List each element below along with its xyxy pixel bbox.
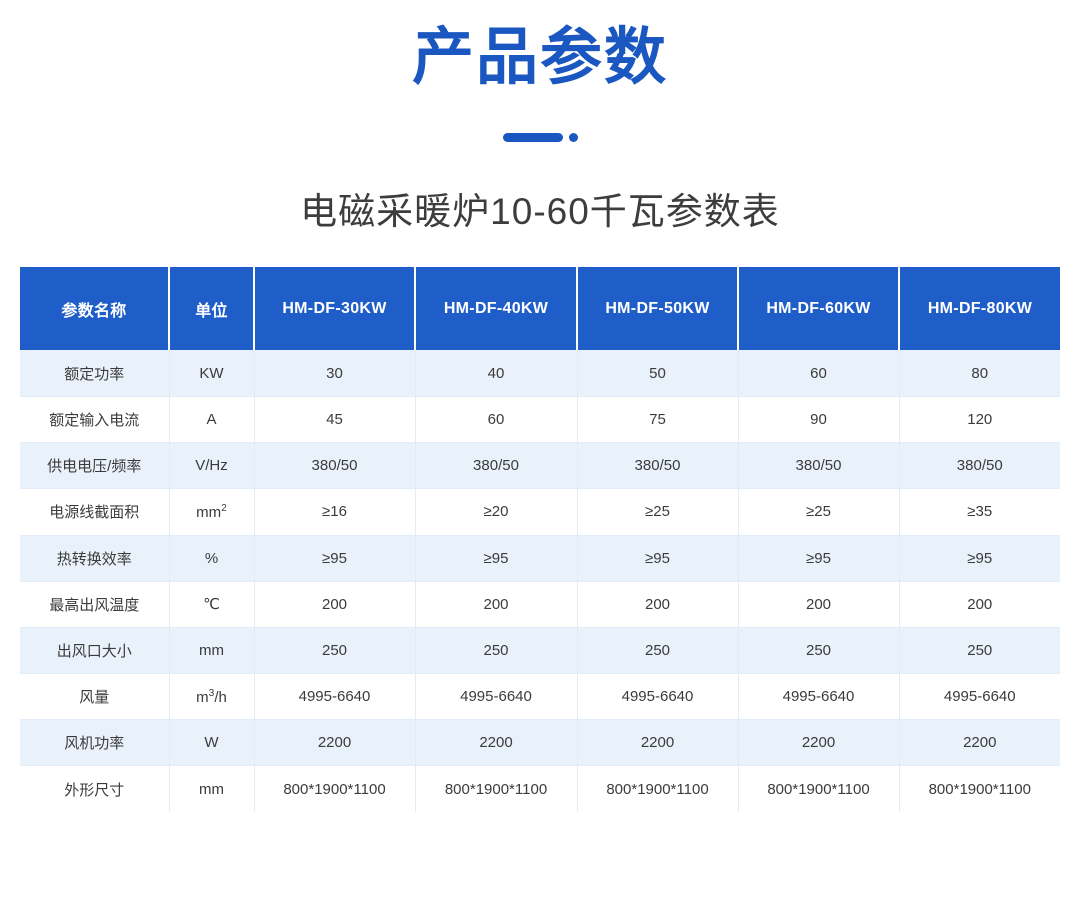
cell-param-name: 风机功率 [20, 720, 169, 766]
title-block: 产品参数 电磁采暖炉10-60千瓦参数表 [0, 0, 1080, 235]
cell-param-name: 额定功率 [20, 350, 169, 396]
cell-value: 4995-6640 [738, 674, 899, 720]
cell-unit: W [169, 720, 254, 766]
column-header-hm-df-60kw: HM-DF-60KW [738, 267, 899, 350]
cell-value: ≥95 [738, 535, 899, 581]
cell-param-name: 额定输入电流 [20, 396, 169, 442]
cell-value: 45 [254, 396, 415, 442]
cell-unit: % [169, 535, 254, 581]
cell-value: ≥95 [577, 535, 738, 581]
spec-table-head: 参数名称 单位 HM-DF-30KW HM-DF-40KW HM-DF-50KW… [20, 267, 1060, 350]
cell-param-name: 风量 [20, 674, 169, 720]
table-row: 最高出风温度℃200200200200200 [20, 581, 1060, 627]
cell-value: 120 [899, 396, 1060, 442]
cell-value: ≥35 [899, 489, 1060, 535]
cell-value: 4995-6640 [577, 674, 738, 720]
cell-value: 800*1900*1100 [415, 766, 577, 812]
cell-value: ≥95 [415, 535, 577, 581]
cell-value: 250 [899, 627, 1060, 673]
cell-param-name: 供电电压/频率 [20, 443, 169, 489]
column-header-hm-df-50kw: HM-DF-50KW [577, 267, 738, 350]
cell-value: ≥95 [899, 535, 1060, 581]
cell-value: 200 [899, 581, 1060, 627]
cell-value: ≥20 [415, 489, 577, 535]
cell-value: 2200 [415, 720, 577, 766]
cell-unit: m3/h [169, 674, 254, 720]
cell-value: 250 [738, 627, 899, 673]
cell-unit: KW [169, 350, 254, 396]
cell-value: 200 [577, 581, 738, 627]
cell-value: ≥25 [577, 489, 738, 535]
cell-param-name: 外形尺寸 [20, 766, 169, 812]
cell-value: 90 [738, 396, 899, 442]
cell-param-name: 最高出风温度 [20, 581, 169, 627]
cell-unit: mm [169, 627, 254, 673]
cell-value: ≥16 [254, 489, 415, 535]
column-header-hm-df-40kw: HM-DF-40KW [415, 267, 577, 350]
cell-value: 2200 [254, 720, 415, 766]
column-header-hm-df-80kw: HM-DF-80KW [899, 267, 1060, 350]
cell-value: 800*1900*1100 [738, 766, 899, 812]
table-row: 供电电压/频率V/Hz380/50380/50380/50380/50380/5… [20, 443, 1060, 489]
cell-value: 380/50 [577, 443, 738, 489]
cell-value: 250 [577, 627, 738, 673]
table-row: 电源线截面积mm2≥16≥20≥25≥25≥35 [20, 489, 1060, 535]
cell-value: 2200 [738, 720, 899, 766]
cell-value: 800*1900*1100 [577, 766, 738, 812]
table-row: 额定输入电流A45607590120 [20, 396, 1060, 442]
divider-bar-icon [503, 133, 563, 142]
cell-value: 60 [738, 350, 899, 396]
cell-value: 4995-6640 [415, 674, 577, 720]
cell-unit: mm2 [169, 489, 254, 535]
cell-unit: ℃ [169, 581, 254, 627]
table-row: 风机功率W22002200220022002200 [20, 720, 1060, 766]
cell-unit: A [169, 396, 254, 442]
cell-value: 40 [415, 350, 577, 396]
cell-value: 250 [254, 627, 415, 673]
product-parameters-page: 产品参数 电磁采暖炉10-60千瓦参数表 参数名称 单位 HM-DF-30 [0, 0, 1080, 914]
cell-value: 200 [254, 581, 415, 627]
cell-value: 4995-6640 [899, 674, 1060, 720]
cell-param-name: 热转换效率 [20, 535, 169, 581]
cell-value: 250 [415, 627, 577, 673]
cell-value: 2200 [577, 720, 738, 766]
cell-value: 380/50 [899, 443, 1060, 489]
cell-value: 380/50 [254, 443, 415, 489]
column-header-unit: 单位 [169, 267, 254, 350]
page-title: 产品参数 [0, 22, 1080, 93]
cell-value: 2200 [899, 720, 1060, 766]
cell-unit: V/Hz [169, 443, 254, 489]
cell-param-name: 电源线截面积 [20, 489, 169, 535]
cell-unit: mm [169, 766, 254, 812]
cell-value: 75 [577, 396, 738, 442]
cell-value: 60 [415, 396, 577, 442]
spec-table-wrapper: 参数名称 单位 HM-DF-30KW HM-DF-40KW HM-DF-50KW… [20, 267, 1060, 812]
cell-value: 200 [415, 581, 577, 627]
cell-value: 380/50 [415, 443, 577, 489]
title-divider [0, 131, 1080, 143]
cell-value: ≥95 [254, 535, 415, 581]
cell-value: 80 [899, 350, 1060, 396]
cell-value: 200 [738, 581, 899, 627]
cell-value: 30 [254, 350, 415, 396]
cell-value: 800*1900*1100 [254, 766, 415, 812]
column-header-param-name: 参数名称 [20, 267, 169, 350]
cell-value: 800*1900*1100 [899, 766, 1060, 812]
spec-table-body: 额定功率KW3040506080额定输入电流A45607590120供电电压/频… [20, 350, 1060, 812]
spec-table: 参数名称 单位 HM-DF-30KW HM-DF-40KW HM-DF-50KW… [20, 267, 1060, 812]
cell-param-name: 出风口大小 [20, 627, 169, 673]
cell-value: 4995-6640 [254, 674, 415, 720]
cell-value: 380/50 [738, 443, 899, 489]
table-row: 外形尺寸mm800*1900*1100800*1900*1100800*1900… [20, 766, 1060, 812]
page-subtitle: 电磁采暖炉10-60千瓦参数表 [0, 143, 1080, 235]
table-header-row: 参数名称 单位 HM-DF-30KW HM-DF-40KW HM-DF-50KW… [20, 267, 1060, 350]
cell-value: 50 [577, 350, 738, 396]
column-header-hm-df-30kw: HM-DF-30KW [254, 267, 415, 350]
table-row: 出风口大小mm250250250250250 [20, 627, 1060, 673]
divider-dot-icon [569, 133, 578, 142]
cell-value: ≥25 [738, 489, 899, 535]
table-row: 风量m3/h4995-66404995-66404995-66404995-66… [20, 674, 1060, 720]
table-row: 额定功率KW3040506080 [20, 350, 1060, 396]
table-row: 热转换效率%≥95≥95≥95≥95≥95 [20, 535, 1060, 581]
